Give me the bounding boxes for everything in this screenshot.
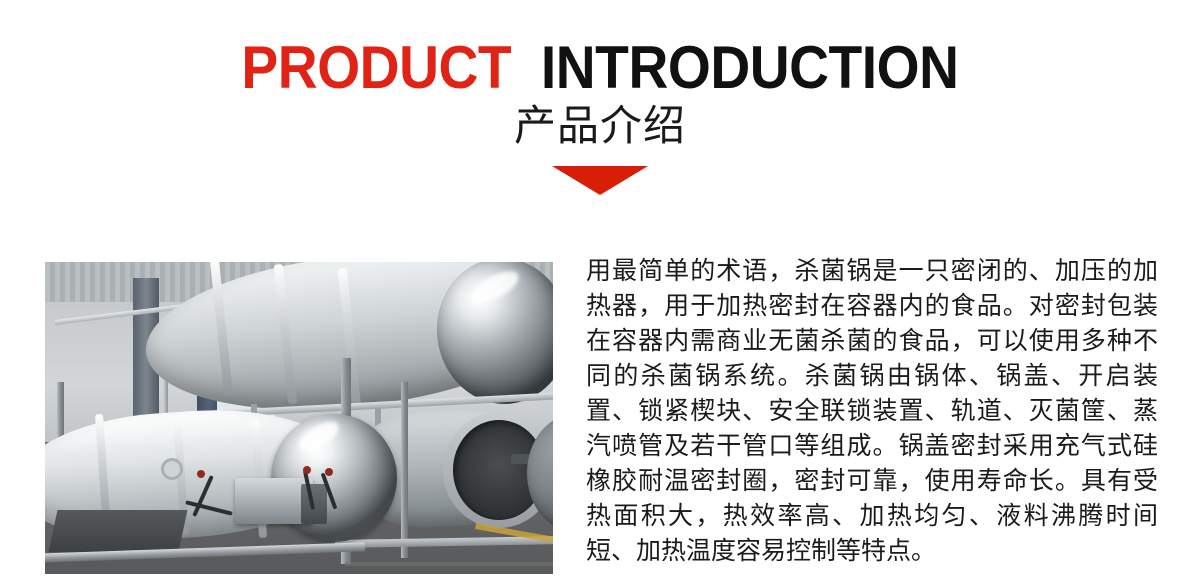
page-title: PRODUCT INTRODUCTION	[48, 0, 1152, 98]
page-title-gap	[511, 34, 541, 101]
valve-handwheel	[161, 458, 183, 480]
product-photo	[45, 262, 553, 574]
photo-scene	[45, 262, 553, 574]
content-area: 用最简单的术语，杀菌锅是一只密闭的、加压的加热器，用于加热密封在容器内的食品。对…	[0, 253, 1200, 587]
handle-knob	[197, 470, 205, 478]
triangle-down-icon	[552, 166, 648, 195]
page-subtitle: 产品介绍	[0, 98, 1200, 148]
page-title-word-product: PRODUCT	[241, 34, 511, 101]
vessel-base-skid	[49, 510, 188, 552]
section-divider	[0, 166, 1200, 195]
product-description-text: 用最简单的术语，杀菌锅是一只密闭的、加压的加热器，用于加热密封在容器内的食品。对…	[586, 253, 1158, 568]
handle-knob	[325, 468, 333, 476]
frame-cross-beam	[335, 536, 553, 548]
frame-post	[401, 382, 408, 558]
handle-knob	[303, 466, 311, 474]
floor-shadow-line	[345, 562, 553, 566]
page-header: PRODUCT INTRODUCTION 产品介绍	[0, 0, 1200, 148]
page-title-word-introduction: INTRODUCTION	[541, 34, 959, 101]
product-description: 用最简单的术语，杀菌锅是一只密闭的、加压的加热器，用于加热密封在容器内的食品。对…	[586, 253, 1158, 568]
product-introduction-page: PRODUCT INTRODUCTION 产品介绍	[0, 0, 1200, 587]
